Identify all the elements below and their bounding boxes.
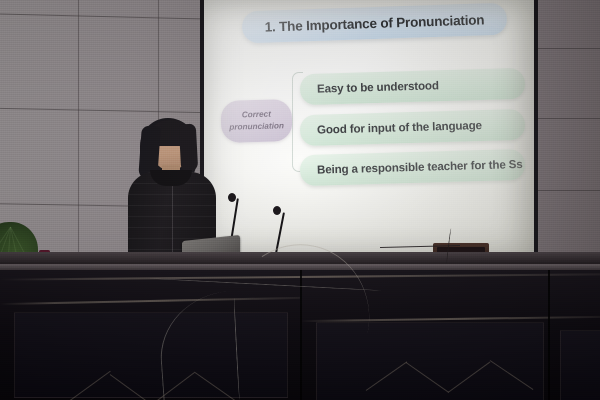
list-item: Easy to be understood	[300, 68, 526, 105]
wall-seam	[0, 13, 205, 19]
podium-seam	[548, 270, 550, 400]
podium-panel	[560, 330, 600, 400]
list-item: Being a responsible teacher for the Ss	[300, 149, 526, 186]
page-title: 1. The Importance of Pronunciation	[242, 3, 508, 44]
node-label: Correct pronunciation	[220, 99, 292, 143]
node-correct-pronunciation: Correct pronunciation	[220, 99, 292, 143]
wall-seam	[537, 118, 600, 119]
node-label-line2: pronunciation	[229, 120, 284, 134]
microphone-capsule	[228, 193, 236, 202]
list-item-label: Easy to be understood	[317, 70, 440, 104]
wall-seam	[537, 48, 600, 49]
node-label-line1: Correct	[242, 108, 271, 121]
photograph: 1. The Importance of Pronunciation Corre…	[0, 0, 600, 400]
projection-screen: 1. The Importance of Pronunciation Corre…	[204, 0, 534, 258]
list-item: Good for input of the language	[300, 109, 526, 146]
hair-side-right	[179, 124, 198, 173]
wall-seam	[0, 108, 205, 113]
list-item-label: Being a responsible teacher for the Ss	[317, 149, 523, 186]
wall-seam	[537, 190, 600, 191]
slide-title-pill: 1. The Importance of Pronunciation	[242, 3, 508, 44]
microphone-capsule	[273, 206, 281, 215]
list-item-label: Good for input of the language	[317, 110, 483, 146]
